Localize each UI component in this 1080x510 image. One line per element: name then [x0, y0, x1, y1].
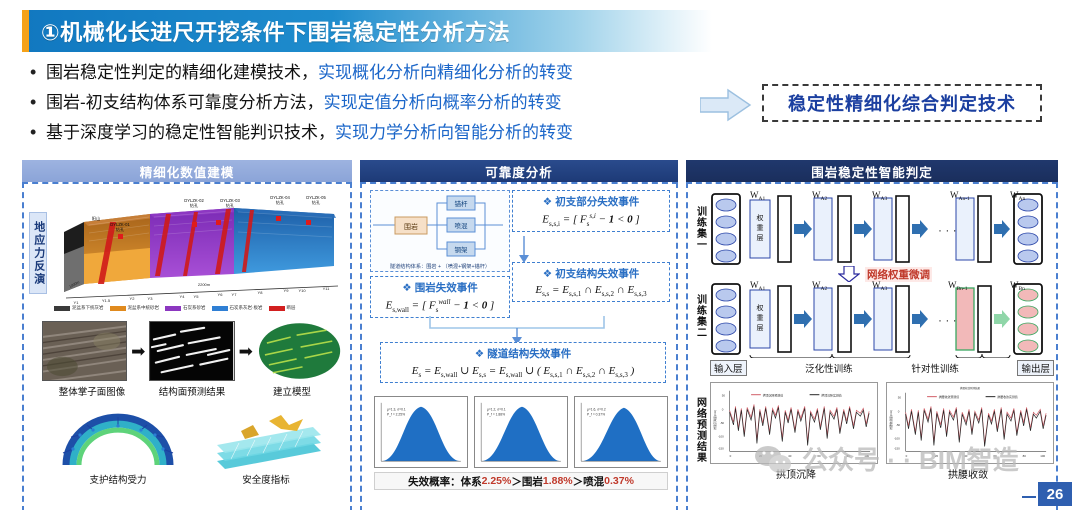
histogram-chart: μ=1.2, σ=0.1 P_f = 1.88% — [474, 396, 568, 468]
event-title: ❖围岩失效事件 — [376, 280, 504, 295]
caption-face-image: 整体掌子面图像 — [42, 384, 142, 398]
bullet-dot-icon: • — [30, 123, 46, 141]
svg-text:拱腰收敛预测值: 拱腰收敛预测值 — [939, 394, 959, 399]
bullet-dot-icon: • — [30, 93, 46, 111]
svg-text:权: 权 — [757, 213, 764, 222]
svg-text:P_f = 1.88%: P_f = 1.88% — [487, 412, 505, 416]
geostress-inversion-label: 地应力反演 — [29, 212, 47, 294]
legend-item: 断层 — [269, 305, 296, 311]
svg-text:拱顶沉降实测值: 拱顶沉降实测值 — [821, 392, 841, 397]
bullet-item-2: • 围岩-初支结构体系可靠度分析方法， 实现定值分析向概率分析的转变 — [30, 88, 720, 118]
event-equation: Es = Es,wall ∪ Es,s = Es,wall ∪ ( Es,s,1… — [386, 364, 660, 379]
svg-text:60: 60 — [993, 454, 997, 458]
svg-text:拱腰收敛实测值: 拱腰收敛实测值 — [997, 394, 1017, 399]
svg-text:钻孔: 钻孔 — [190, 202, 199, 209]
svg-text:Y3: Y3 — [148, 296, 154, 301]
svg-text:P_f = 0.37%: P_f = 0.37% — [587, 412, 605, 416]
svg-text:50: 50 — [898, 396, 902, 400]
callout-text: 稳定性精细化综合判定技术 — [788, 90, 1016, 116]
bullet-3-text: 基于深度学习的稳定性智能判识技术， — [46, 118, 335, 143]
event-title: ❖初支结构失效事件 — [518, 266, 664, 281]
svg-text:重: 重 — [757, 224, 764, 232]
bullet-list: • 围岩稳定性判定的精细化建模技术， 实现概化分析向精细化分析的转变 • 围岩-… — [30, 58, 720, 148]
caption-crown-settlement: 拱顶沉降 — [710, 466, 882, 481]
svg-text:围岩: 围岩 — [404, 222, 418, 231]
page-title: ①机械化长进尺开挖条件下围岩稳定性分析方法 — [29, 15, 510, 47]
diamond-bullet-icon: ❖ — [543, 268, 552, 280]
bullet-1-text: 围岩稳定性判定的精细化建模技术， — [46, 58, 318, 83]
failure-probability-summary: 失效概率： 体系 2.25% ＞ 围岩 1.88% ＞ 喷混 0.37% — [374, 472, 668, 490]
svg-text:拱顶沉降量(mm): 拱顶沉降量(mm) — [713, 410, 717, 430]
bullet-3-highlight: 实现力学分析向智能分析的转变 — [335, 118, 573, 143]
page-tick-decoration — [1022, 496, 1036, 498]
svg-text:WBn-1: WBn-1 — [948, 280, 968, 292]
pipeline-captions: 整体掌子面图像 结构面预测结果 建立模型 — [42, 384, 342, 398]
event-box-surrounding-rock-failure: ❖围岩失效事件 Es,wall = [ Fswall − 1 < 0 ] — [370, 276, 510, 318]
svg-text:100: 100 — [864, 454, 869, 458]
prob-name-2: 围岩 — [522, 474, 543, 489]
caption-build-model: 建立模型 — [242, 384, 342, 398]
network-layer-labels: 输入层 泛化性训练 针对性训练 输出层 — [710, 360, 1054, 376]
svg-text:50: 50 — [722, 394, 726, 398]
tunnel-face-photo — [42, 321, 127, 381]
svg-text:40: 40 — [788, 454, 792, 458]
svg-text:层: 层 — [757, 234, 764, 242]
svg-text:80: 80 — [847, 454, 851, 458]
prob-value-2: 1.88% — [543, 475, 573, 487]
svg-text:80: 80 — [1023, 454, 1027, 458]
bullet-item-1: • 围岩稳定性判定的精细化建模技术， 实现概化分析向精细化分析的转变 — [30, 58, 720, 88]
label-targeted-training: 针对性训练 — [911, 361, 959, 375]
label-input-layer: 输入层 — [710, 360, 747, 376]
system-diagram-caption: 隧道结构体系：围岩 + （喷混+钢架+锚杆） — [371, 263, 509, 270]
prob-value-3: 0.37% — [604, 475, 634, 487]
right-arrow-icon — [700, 88, 752, 122]
black-arrow-icon: ➡ — [131, 343, 145, 360]
training-set-2-label: 训练集二 — [692, 282, 708, 350]
svg-text:Y11: Y11 — [323, 286, 331, 291]
safety-index-image — [197, 409, 335, 469]
prediction-result-label: 网络预测结果 — [692, 380, 708, 480]
histogram-chart: μ=1.6, σ=0.2 P_f = 0.37% — [574, 396, 668, 468]
svg-text:钻孔: 钻孔 — [312, 199, 321, 206]
panel-intelligent-stability-judgement: 围岩稳定性智能判定 训练集一 训练集二 网络预测结果 权 重 — [686, 160, 1058, 510]
haunch-convergence-chart: 拱腰收敛预测结果 500 -50-100-150 02040 6080100 拱… — [886, 382, 1054, 464]
prob-value-1: 2.25% — [482, 475, 512, 487]
svg-text:阳山: 阳山 — [92, 215, 100, 222]
diamond-bullet-icon: ❖ — [402, 282, 411, 294]
svg-text:20: 20 — [759, 454, 763, 458]
tunnel-face-pipeline: ➡ ➡ — [42, 320, 342, 382]
event-equation: Es,s = Es,s,1 ∩ Es,s,2 ∩ Es,s,3 — [518, 284, 664, 298]
svg-text:· · ·: · · · — [938, 313, 957, 327]
analysis-results-row — [44, 408, 340, 470]
svg-text:WAn-1: WAn-1 — [950, 190, 970, 202]
svg-text:Y7: Y7 — [232, 292, 238, 297]
bullet-2-text: 围岩-初支结构体系可靠度分析方法， — [46, 88, 324, 113]
svg-text:-150: -150 — [718, 446, 724, 450]
legend-item: 石炭系砂岩 — [165, 305, 206, 311]
title-accent-bar — [22, 10, 29, 52]
diamond-bullet-icon: ❖ — [543, 196, 552, 208]
slide-root: ①机械化长进尺开挖条件下围岩稳定性分析方法 • 围岩稳定性判定的精细化建模技术，… — [0, 0, 1080, 510]
panel-intelligent-body: 训练集一 训练集二 网络预测结果 权 重 层 — [686, 182, 1058, 510]
panel-modeling-header: 精细化数值建模 — [22, 160, 352, 182]
crown-settlement-chart: 500 -50-100-150 02040 6080100 拱顶沉降量(mm) … — [710, 382, 878, 464]
prob-name-1: 体系 — [461, 474, 482, 489]
svg-text:60: 60 — [817, 454, 821, 458]
svg-text:钻孔: 钻孔 — [276, 199, 285, 206]
label-output-layer: 输出层 — [1017, 360, 1054, 376]
svg-text:权: 权 — [757, 303, 764, 312]
label-generalization-training: 泛化性训练 — [805, 361, 853, 375]
diamond-bullet-icon: ❖ — [475, 348, 484, 360]
panel-refined-numerical-modeling: 精细化数值建模 地应力反演 — [22, 160, 352, 510]
legend-item: 石炭系灰岩·板岩 — [212, 305, 263, 311]
bullet-item-3: • 基于深度学习的稳定性智能判识技术， 实现力学分析向智能分析的转变 — [30, 118, 720, 148]
reliability-histograms: μ=1.3, σ=0.1 P_f = 2.25% μ=1.2, σ=0.1 P_… — [374, 396, 668, 468]
prob-prefix: 失效概率： — [408, 474, 461, 489]
svg-text:20: 20 — [935, 454, 939, 458]
svg-text:Y2: Y2 — [130, 296, 136, 301]
svg-text:拱腰收敛预测结果: 拱腰收敛预测结果 — [960, 386, 981, 390]
caption-haunch-convergence: 拱腰收敛 — [882, 466, 1054, 481]
panel-reliability-header: 可靠度分析 — [360, 160, 678, 182]
caption-plane-prediction: 结构面预测结果 — [142, 384, 242, 398]
svg-text:Y4: Y4 — [180, 294, 186, 299]
caption-support-stress: 支护结构受力 — [44, 472, 192, 486]
svg-text:-100: -100 — [718, 435, 724, 439]
panel-reliability-analysis: 可靠度分析 围岩 锚杆喷混钢架 隧道结构体系 — [360, 160, 678, 510]
svg-text:μ=1.6, σ=0.2: μ=1.6, σ=0.2 — [587, 408, 606, 412]
prob-sep: ＞ — [573, 474, 584, 489]
black-arrow-icon: ➡ — [239, 343, 253, 360]
established-model-image — [257, 321, 342, 381]
panel-modeling-body: 地应力反演 — [22, 182, 352, 510]
svg-text:-50: -50 — [720, 421, 725, 425]
svg-text:100: 100 — [1040, 454, 1045, 458]
structural-plane-prediction-image — [149, 321, 234, 381]
svg-text:重: 重 — [757, 314, 764, 322]
svg-text:钻孔: 钻孔 — [226, 202, 235, 209]
slide-title-bar: ①机械化长进尺开挖条件下围岩稳定性分析方法 — [22, 10, 712, 52]
panel-intelligent-header: 围岩稳定性智能判定 — [686, 160, 1058, 182]
svg-text:钻孔: 钻孔 — [116, 226, 125, 233]
histogram-chart: μ=1.3, σ=0.1 P_f = 2.25% — [374, 396, 468, 468]
geological-3d-model-image: DYLZK-01钻孔 DYLZK-02钻孔 DYLZK-03钻孔 DYLZK-0… — [54, 192, 346, 310]
support-structure-stress-image — [49, 409, 187, 469]
neural-network-row-2: 权 重 层 · · · — [710, 280, 1054, 358]
svg-text:Y8: Y8 — [258, 290, 264, 295]
svg-text:-50: -50 — [896, 423, 901, 427]
legend-item: 泥盆系下统灰岩 — [54, 305, 104, 311]
event-box-tunnel-structure-failure: ❖隧道结构失效事件 Es = Es,wall ∪ Es,s = Es,wall … — [380, 342, 666, 383]
svg-text:锚杆: 锚杆 — [455, 199, 469, 208]
svg-text:Y5: Y5 — [194, 294, 200, 299]
svg-text:-100: -100 — [894, 437, 900, 441]
bullet-1-highlight: 实现概化分析向精细化分析的转变 — [318, 58, 573, 83]
neural-network-row-1: 权 重 层 · · · — [710, 190, 1054, 268]
event-title: ❖初支部分失效事件 — [518, 194, 664, 209]
geo-model-legend: 泥盆系下统灰岩 泥盆系中统砂岩 石炭系砂岩 石炭系灰岩·板岩 断层 — [54, 302, 346, 314]
svg-text:WBn: WBn — [1010, 280, 1025, 292]
page-number-badge: 26 — [1038, 482, 1072, 506]
svg-text:Y10: Y10 — [298, 288, 306, 293]
prob-sep: ＞ — [511, 474, 522, 489]
panel-reliability-body: 围岩 锚杆喷混钢架 隧道结构体系：围岩 + （喷混+钢架+锚杆） ❖初支部分失效… — [360, 182, 678, 510]
caption-safety-index: 安全度指标 — [192, 472, 340, 486]
connector-down-arrow-icon — [512, 236, 536, 264]
svg-text:μ=1.2, σ=0.1: μ=1.2, σ=0.1 — [487, 408, 506, 412]
event-box-partial-support-failure: ❖初支部分失效事件 Es,s,i = [ Fss,i − 1 < 0 ] — [512, 190, 670, 232]
event-title: ❖隧道结构失效事件 — [386, 346, 660, 361]
training-set-1-label: 训练集一 — [692, 194, 708, 262]
event-equation: Es,wall = [ Fswall − 1 < 0 ] — [376, 298, 504, 314]
svg-text:Y9: Y9 — [284, 288, 290, 293]
bullet-2-highlight: 实现定值分析向概率分析的转变 — [324, 88, 562, 113]
svg-text:P_f = 2.25%: P_f = 2.25% — [387, 412, 405, 416]
analysis-captions: 支护结构受力 安全度指标 — [44, 472, 340, 486]
bullet-dot-icon: • — [30, 63, 46, 81]
system-series-parallel-diagram: 围岩 锚杆喷混钢架 隧道结构体系：围岩 + （喷混+钢架+锚杆） — [370, 190, 510, 272]
prediction-chart-captions: 拱顶沉降 拱腰收敛 — [710, 466, 1054, 481]
svg-text:-150: -150 — [894, 446, 900, 450]
svg-text:WAn: WAn — [1010, 190, 1025, 202]
svg-text:Y6: Y6 — [218, 292, 224, 297]
callout-box: 稳定性精细化综合判定技术 — [762, 84, 1042, 122]
svg-text:· · ·: · · · — [938, 223, 957, 237]
svg-text:喷混: 喷混 — [455, 221, 469, 230]
legend-item: 泥盆系中统砂岩 — [110, 305, 160, 311]
svg-text:层: 层 — [757, 324, 764, 332]
event-equation: Es,s,i = [ Fss,i − 1 < 0 ] — [518, 212, 664, 228]
svg-text:钢架: 钢架 — [455, 246, 469, 254]
svg-text:μ=1.3, σ=0.1: μ=1.3, σ=0.1 — [387, 408, 406, 412]
svg-text:拱腰收敛量(mm): 拱腰收敛量(mm) — [889, 410, 893, 430]
svg-text:拱顶沉降预测值: 拱顶沉降预测值 — [763, 392, 783, 397]
prediction-charts-row: 500 -50-100-150 02040 6080100 拱顶沉降量(mm) … — [710, 382, 1054, 464]
event-box-support-structure-failure: ❖初支结构失效事件 Es,s = Es,s,1 ∩ Es,s,2 ∩ Es,s,… — [512, 262, 670, 302]
svg-text:40: 40 — [964, 454, 968, 458]
svg-text:2200m: 2200m — [198, 282, 211, 287]
prob-name-3: 喷混 — [583, 474, 604, 489]
